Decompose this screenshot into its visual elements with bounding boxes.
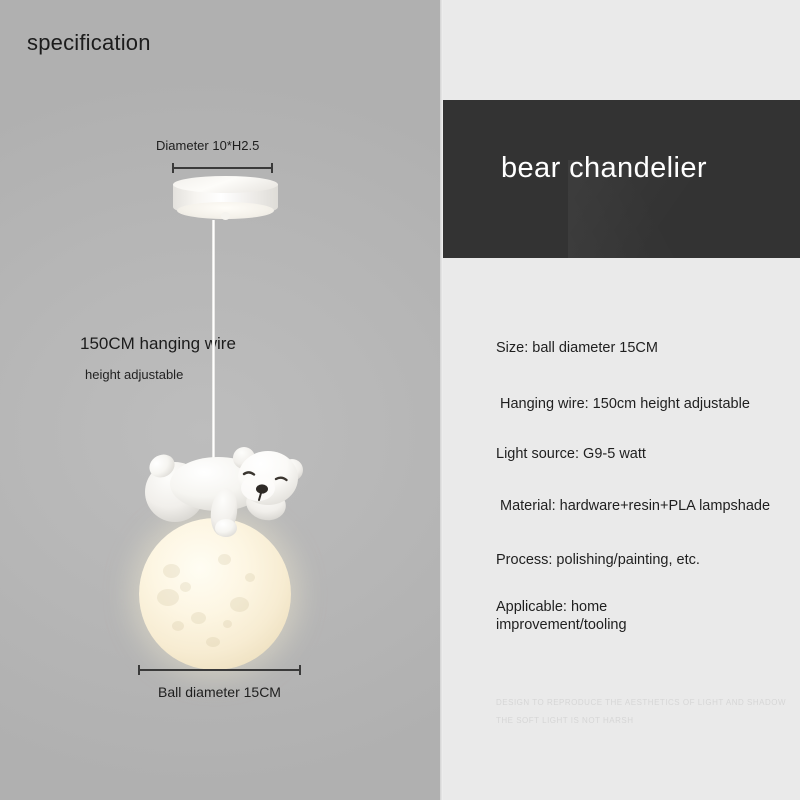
spec-item-light-source: Light source: G9-5 watt [496, 446, 796, 464]
canopy-wire-outlet [221, 212, 230, 220]
bear-svg [140, 440, 316, 540]
product-title: bear chandelier [501, 152, 707, 185]
dimension-cap-right [299, 665, 301, 675]
sleeping-bear-figure [140, 440, 316, 540]
moon-crater [163, 564, 180, 578]
moon-crater [206, 637, 220, 647]
dimension-cap-right [271, 163, 273, 173]
spec-item-process: Process: polishing/painting, etc. [496, 552, 796, 570]
moon-crater [191, 612, 206, 624]
footer-line-2: THE SOFT LIGHT IS NOT HARSH [496, 712, 786, 730]
dimension-bar [172, 167, 273, 169]
bear-nose [256, 484, 268, 493]
moon-crater [172, 621, 184, 631]
product-title-block: bear chandelier [443, 100, 800, 258]
product-specification-page: specification Diameter 10*H2.5 150CM han… [0, 0, 800, 800]
moon-crater [223, 620, 232, 628]
bear-front-paw [215, 519, 237, 537]
footer-tagline: DESIGN TO REPRODUCE THE AESTHETICS OF LI… [496, 694, 786, 731]
hanging-wire [212, 220, 215, 462]
page-title: specification [27, 30, 151, 56]
ball-dimension-label: Ball diameter 15CM [138, 684, 301, 700]
specification-list: Size: ball diameter 15CM Hanging wire: 1… [496, 340, 796, 635]
spec-item-hanging-wire: Hanging wire: 150cm height adjustable [496, 396, 796, 414]
spec-item-material: Material: hardware+resin+PLA lampshade [496, 498, 796, 516]
ceiling-canopy [173, 176, 278, 222]
spec-item-size: Size: ball diameter 15CM [496, 340, 796, 358]
canopy-dimension-label: Diameter 10*H2.5 [156, 138, 259, 153]
footer-line-1: DESIGN TO REPRODUCE THE AESTHETICS OF LI… [496, 694, 786, 712]
moon-ball-lampshade [139, 518, 291, 670]
moon-crater [245, 573, 255, 582]
moon-crater [180, 582, 191, 592]
left-diagram-panel: specification Diameter 10*H2.5 150CM han… [0, 0, 440, 800]
canopy-top-face [173, 176, 278, 193]
height-adjustable-label: height adjustable [85, 367, 183, 382]
ball-dimension-line [138, 665, 301, 675]
moon-crater [230, 597, 249, 612]
moon-crater [218, 554, 231, 565]
moon-crater [157, 589, 179, 606]
spec-item-applicable: Applicable: home improvement/tooling [496, 599, 666, 634]
canopy-dimension-line [172, 163, 273, 173]
dimension-bar [138, 669, 301, 671]
